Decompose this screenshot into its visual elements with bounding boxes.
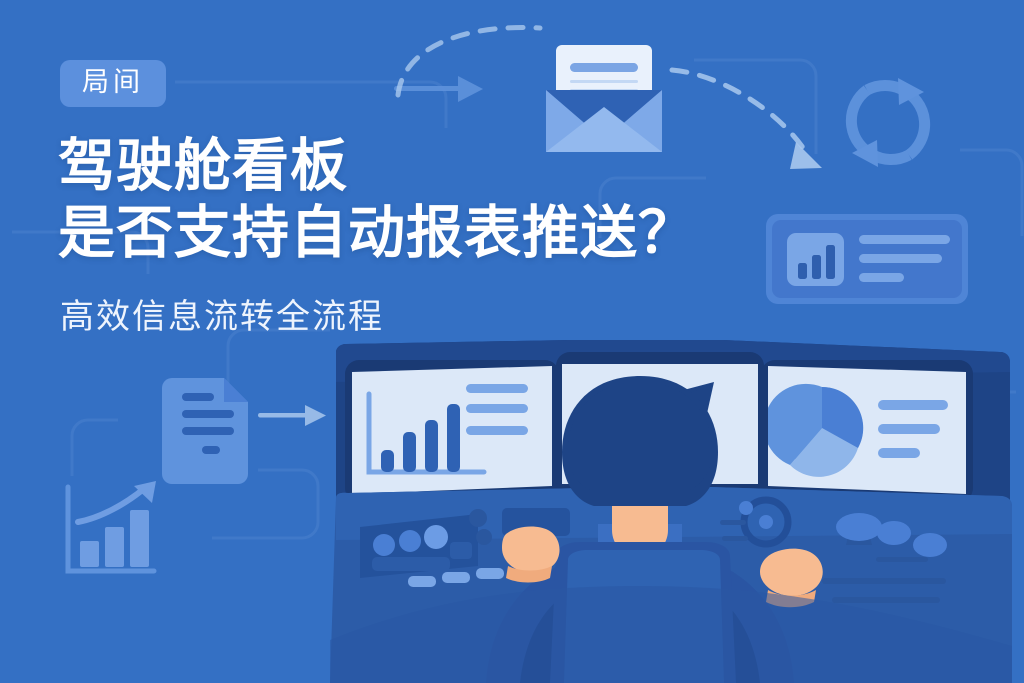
headline-line-2: 是否支持自动报表推送？: [58, 200, 696, 267]
console-pill-3: [476, 568, 504, 579]
category-badge[interactable]: 局间: [60, 60, 166, 107]
poster-canvas: 局间 驾驶舱看板 是否支持自动报表推送？ 高效信息流转全流程: [0, 0, 1024, 683]
console-pill-2: [442, 572, 470, 583]
headline-line-1: 驾驶舱看板: [58, 133, 696, 200]
console-knob-center-1: [469, 509, 487, 527]
console-pill-1: [408, 576, 436, 587]
console-knob-right-1: [877, 521, 911, 545]
page-subtitle: 高效信息流转全流程: [60, 297, 384, 338]
screen-right-pie-chart: [764, 366, 966, 494]
page-title: 驾驶舱看板 是否支持自动报表推送？: [58, 133, 696, 268]
console-button-1: [373, 534, 395, 556]
screen-left-bar-chart: [352, 366, 552, 494]
console-button-2: [399, 530, 421, 552]
console-button-3: [424, 525, 448, 549]
console-knob-center-2: [476, 529, 492, 545]
console-knob-right-2: [913, 533, 947, 557]
console-knob-small: [739, 501, 753, 515]
